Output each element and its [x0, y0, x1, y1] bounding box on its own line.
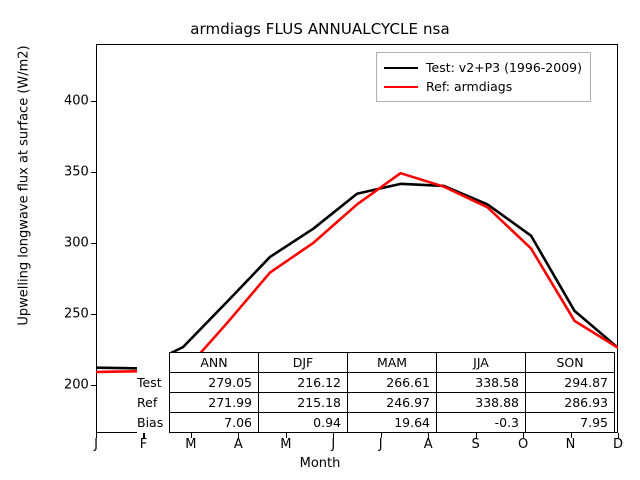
- legend-swatch-ref: [384, 86, 418, 88]
- x-tick-mark: [238, 433, 239, 438]
- table-cell: 7.95: [526, 413, 615, 433]
- table-row-header: Test: [137, 373, 170, 393]
- table-column-header: SON: [526, 353, 615, 373]
- table-cell: 7.06: [170, 413, 259, 433]
- x-tick-label: S: [471, 437, 479, 452]
- x-tick-label: J: [331, 437, 335, 452]
- table-cell: 266.61: [348, 373, 437, 393]
- table-row-header: Ref: [137, 393, 170, 413]
- x-tick-label: M: [280, 437, 291, 452]
- x-tick-mark: [571, 433, 572, 438]
- x-tick-mark: [523, 433, 524, 438]
- x-tick-label: F: [140, 437, 147, 452]
- table-column-header: JJA: [437, 353, 526, 373]
- legend-label-ref: Ref: armdiags: [426, 79, 512, 94]
- x-axis-label: Month: [0, 456, 640, 471]
- y-tick-mark: [91, 172, 96, 173]
- table-cell: 338.88: [437, 393, 526, 413]
- y-tick-label: 400: [64, 93, 88, 108]
- table-row: Bias7.060.9419.64-0.37.95: [137, 413, 615, 433]
- table-cell: -0.3: [437, 413, 526, 433]
- table-header-row: ANNDJFMAMJJASON: [137, 353, 615, 373]
- table-cell: 286.93: [526, 393, 615, 413]
- x-tick-label: J: [94, 437, 98, 452]
- y-tick-label: 250: [64, 306, 88, 321]
- x-tick-mark: [476, 433, 477, 438]
- x-tick-mark: [96, 433, 97, 438]
- x-tick-label: O: [518, 437, 528, 452]
- table-cell: 216.12: [259, 373, 348, 393]
- table-cell: 19.64: [348, 413, 437, 433]
- page-title: armdiags FLUS ANNUALCYCLE nsa: [0, 20, 640, 38]
- x-tick-mark: [333, 433, 334, 438]
- legend-entry-test: Test: v2+P3 (1996-2009): [384, 58, 582, 77]
- table-cell: 294.87: [526, 373, 615, 393]
- legend-swatch-test: [384, 67, 418, 69]
- y-axis-label: Upwelling longwave flux at surface (W/m2…: [17, 0, 32, 386]
- x-tick-mark: [618, 433, 619, 438]
- y-tick-mark: [91, 385, 96, 386]
- table-cell: 338.58: [437, 373, 526, 393]
- x-tick-mark: [381, 433, 382, 438]
- y-tick-label: 200: [64, 377, 88, 392]
- x-tick-label: N: [566, 437, 576, 452]
- x-tick-label: A: [424, 437, 433, 452]
- x-tick-label: D: [613, 437, 623, 452]
- legend: Test: v2+P3 (1996-2009) Ref: armdiags: [376, 52, 591, 102]
- x-tick-mark: [428, 433, 429, 438]
- table-cell: 0.94: [259, 413, 348, 433]
- y-tick-label: 350: [64, 164, 88, 179]
- x-tick-mark: [143, 433, 144, 438]
- figure-canvas: armdiags FLUS ANNUALCYCLE nsa Upwelling …: [0, 0, 640, 480]
- x-tick-mark: [286, 433, 287, 438]
- stats-table: ANNDJFMAMJJASONTest279.05216.12266.61338…: [137, 352, 615, 433]
- legend-entry-ref: Ref: armdiags: [384, 77, 582, 96]
- table-column-header: MAM: [348, 353, 437, 373]
- x-tick-label: J: [379, 437, 383, 452]
- table-cell: 215.18: [259, 393, 348, 413]
- table-cell: 279.05: [170, 373, 259, 393]
- x-tick-mark: [191, 433, 192, 438]
- table-row-header: Bias: [137, 413, 170, 433]
- table-cell: 246.97: [348, 393, 437, 413]
- table-corner-cell: [137, 353, 170, 373]
- table-column-header: DJF: [259, 353, 348, 373]
- y-tick-mark: [91, 243, 96, 244]
- table-cell: 271.99: [170, 393, 259, 413]
- legend-label-test: Test: v2+P3 (1996-2009): [426, 60, 582, 75]
- table-row: Test279.05216.12266.61338.58294.87: [137, 373, 615, 393]
- y-tick-mark: [91, 101, 96, 102]
- table-column-header: ANN: [170, 353, 259, 373]
- series-line-ref: [96, 173, 618, 372]
- x-tick-label: M: [185, 437, 196, 452]
- x-tick-label: A: [234, 437, 243, 452]
- table-row: Ref271.99215.18246.97338.88286.93: [137, 393, 615, 413]
- y-tick-label: 300: [64, 235, 88, 250]
- series-line-test: [96, 184, 618, 369]
- y-tick-mark: [91, 314, 96, 315]
